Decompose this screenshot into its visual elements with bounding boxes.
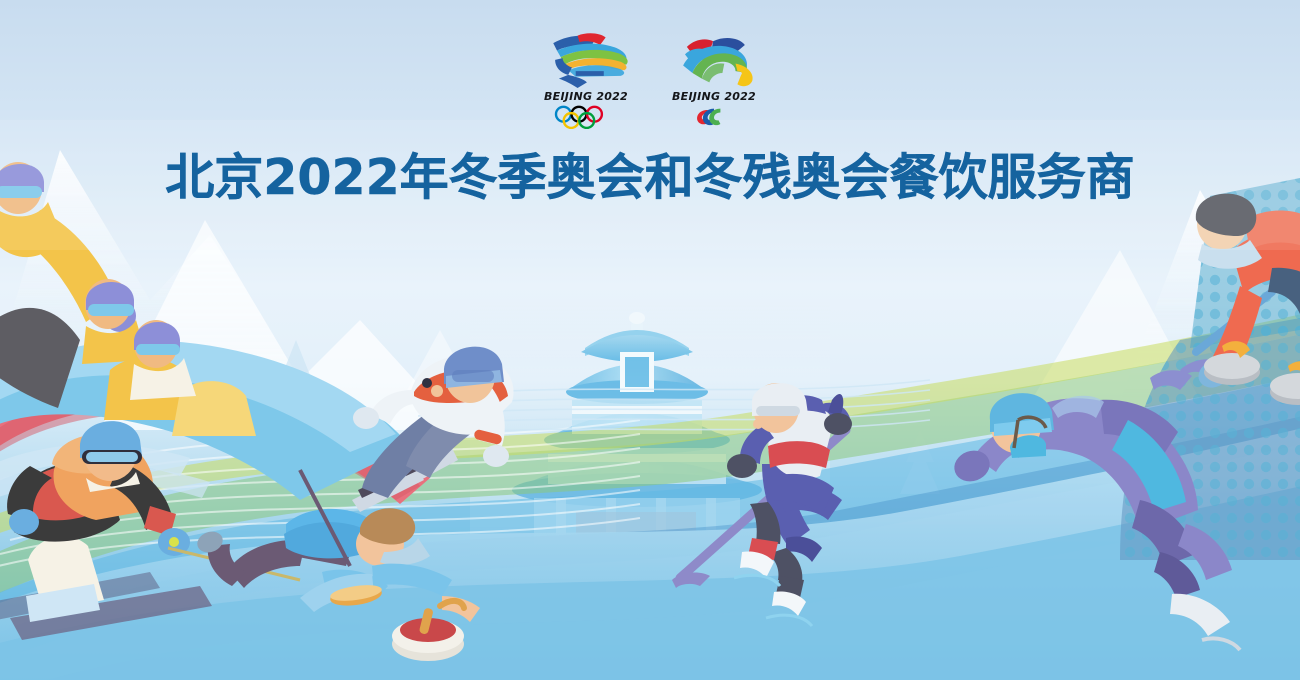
svg-text:BEIJING 2022: BEIJING 2022 bbox=[544, 90, 628, 103]
olympic-emblem: BEIJING 2022 bbox=[536, 30, 636, 129]
beijing-2022-catering-banner: BEIJING 2022 bbox=[0, 0, 1300, 680]
paralympic-emblem: BEIJING 2022 bbox=[664, 30, 764, 129]
emblem-row: BEIJING 2022 bbox=[0, 30, 1300, 142]
olympic-wordmark: BEIJING 2022 bbox=[542, 89, 630, 103]
paralympic-wordmark: BEIJING 2022 bbox=[670, 89, 758, 103]
olympic-rings-icon bbox=[549, 105, 623, 129]
paralympic-emblem-mark bbox=[662, 30, 766, 88]
svg-text:BEIJING 2022: BEIJING 2022 bbox=[672, 90, 756, 103]
page-title: 北京2022年冬季奥会和冬残奥会餐饮服务商 bbox=[0, 148, 1300, 208]
agitos-icon bbox=[682, 105, 746, 129]
olympic-emblem-mark bbox=[534, 30, 638, 88]
